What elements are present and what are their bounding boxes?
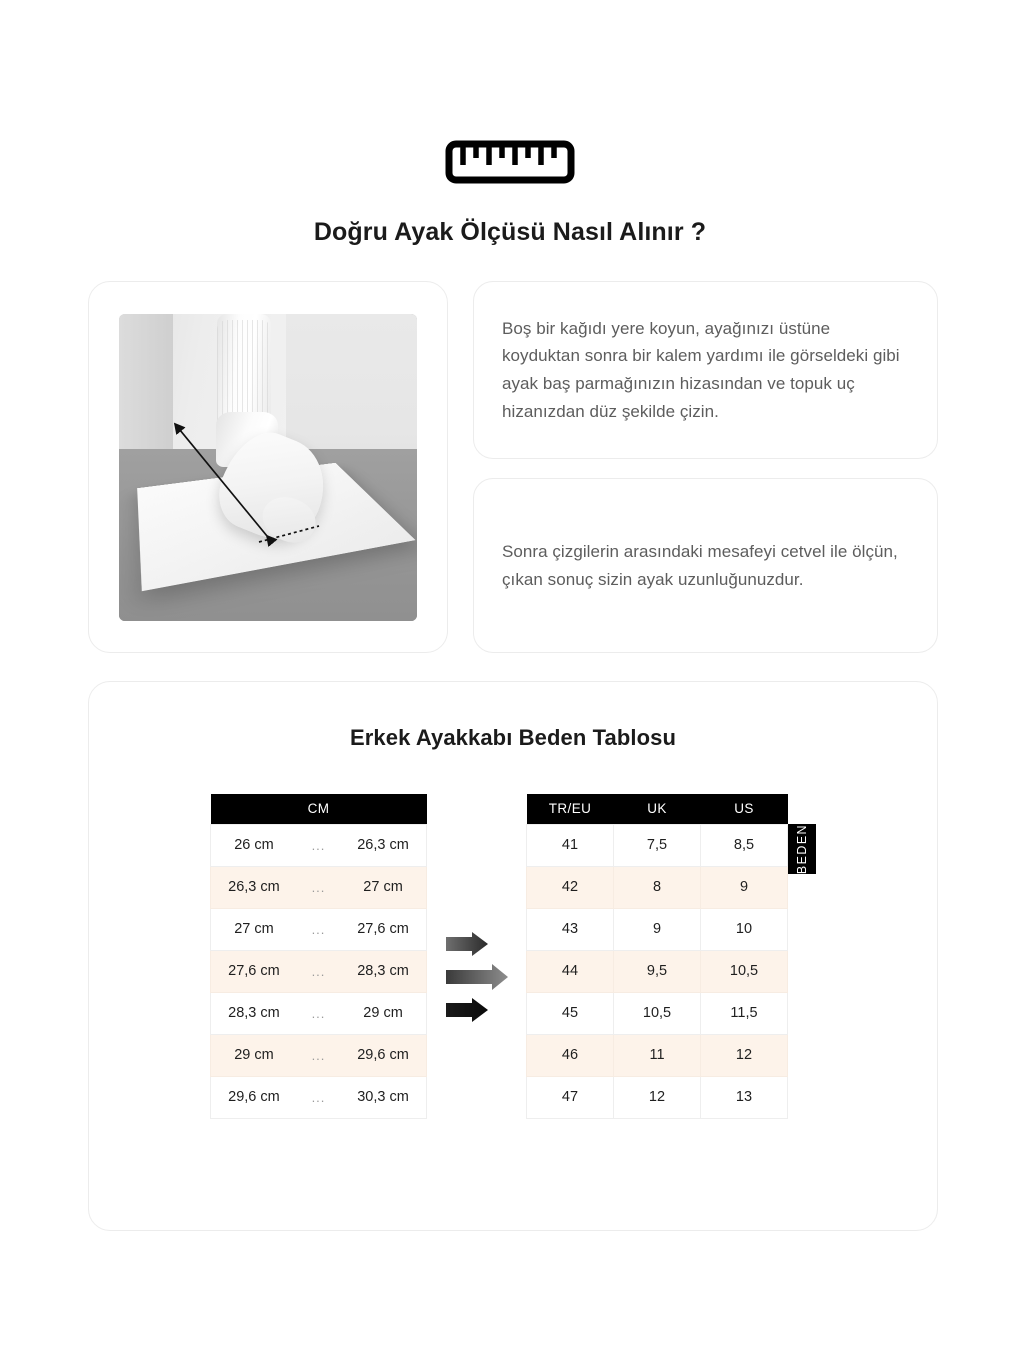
cm-dots: ... (297, 950, 340, 992)
size-table-card: Erkek Ayakkabı Beden Tablosu CM 26 cm ..… (88, 681, 938, 1231)
table-row: 28,3 cm ... 29 cm (211, 992, 427, 1034)
header-us: US (701, 794, 788, 824)
size-table-title: Erkek Ayakkabı Beden Tablosu (89, 725, 937, 751)
cm-to: 28,3 cm (340, 950, 426, 992)
cm-to: 29,6 cm (340, 1034, 426, 1076)
cell-us: 12 (701, 1034, 788, 1076)
cm-to: 27,6 cm (340, 908, 426, 950)
ruler-icon (445, 140, 575, 184)
size-conversion-group: TR/EU UK US 41 7,5 8,5 42 8 (526, 794, 816, 1119)
header-tr-eu: TR/EU (527, 794, 614, 824)
table-row: 44 9,5 10,5 (527, 950, 788, 992)
cm-table-header-row: CM (211, 794, 427, 824)
cm-from: 28,3 cm (211, 992, 297, 1034)
cell-uk: 11 (614, 1034, 701, 1076)
conversion-arrows (427, 794, 526, 1160)
table-row: 29 cm ... 29,6 cm (211, 1034, 427, 1076)
cell-tr-eu: 41 (527, 824, 614, 866)
cm-dots: ... (297, 866, 340, 908)
cell-tr-eu: 42 (527, 866, 614, 908)
instruction-card-2: Sonra çizgilerin arasındaki mesafeyi cet… (473, 478, 938, 653)
cm-dots: ... (297, 908, 340, 950)
table-row: 42 8 9 (527, 866, 788, 908)
cm-from: 26 cm (211, 824, 297, 866)
instruction-text-2: Sonra çizgilerin arasındaki mesafeyi cet… (502, 538, 909, 593)
measurement-arrow-overlay (119, 314, 417, 621)
size-table-header-row: TR/EU UK US (527, 794, 788, 824)
beden-side-bar: BEDEN (788, 824, 816, 874)
cell-uk: 9,5 (614, 950, 701, 992)
table-row: 41 7,5 8,5 (527, 824, 788, 866)
table-row: 45 10,5 11,5 (527, 992, 788, 1034)
size-tables-row: CM 26 cm ... 26,3 cm 26,3 cm ... 27 cm (89, 794, 937, 1160)
instruction-text-1: Boş bir kağıdı yere koyun, ayağınızı üst… (502, 315, 909, 426)
table-row: 27,6 cm ... 28,3 cm (211, 950, 427, 992)
cm-dots: ... (297, 824, 340, 866)
size-conversion-table: TR/EU UK US 41 7,5 8,5 42 8 (526, 794, 788, 1119)
cell-uk: 10,5 (614, 992, 701, 1034)
beden-label: BEDEN (795, 824, 809, 874)
table-row: 26 cm ... 26,3 cm (211, 824, 427, 866)
cm-from: 29 cm (211, 1034, 297, 1076)
page-title: Doğru Ayak Ölçüsü Nasıl Alınır ? (0, 218, 1020, 247)
cm-to: 29 cm (340, 992, 426, 1034)
cell-tr-eu: 43 (527, 908, 614, 950)
cell-us: 13 (701, 1076, 788, 1118)
cell-tr-eu: 44 (527, 950, 614, 992)
cell-us: 10,5 (701, 950, 788, 992)
table-row: 47 12 13 (527, 1076, 788, 1118)
table-row: 27 cm ... 27,6 cm (211, 908, 427, 950)
cm-to: 26,3 cm (340, 824, 426, 866)
cm-header-cell: CM (211, 794, 427, 824)
foot-measurement-photo (119, 314, 417, 621)
header-uk: UK (614, 794, 701, 824)
cell-uk: 12 (614, 1076, 701, 1118)
how-to-measure-section: Boş bir kağıdı yere koyun, ayağınızı üst… (88, 281, 938, 653)
table-row: 26,3 cm ... 27 cm (211, 866, 427, 908)
table-row: 43 9 10 (527, 908, 788, 950)
table-row: 29,6 cm ... 30,3 cm (211, 1076, 427, 1118)
instruction-cards: Boş bir kağıdı yere koyun, ayağınızı üst… (473, 281, 938, 653)
cell-us: 11,5 (701, 992, 788, 1034)
cm-dots: ... (297, 1034, 340, 1076)
table-row: 46 11 12 (527, 1034, 788, 1076)
cell-us: 10 (701, 908, 788, 950)
cm-from: 27 cm (211, 908, 297, 950)
cm-dots: ... (297, 1076, 340, 1118)
cell-us: 8,5 (701, 824, 788, 866)
cell-tr-eu: 45 (527, 992, 614, 1034)
cell-tr-eu: 47 (527, 1076, 614, 1118)
cm-from: 27,6 cm (211, 950, 297, 992)
arrows-icon (444, 931, 510, 1023)
cm-to: 30,3 cm (340, 1076, 426, 1118)
size-guide-page: Doğru Ayak Ölçüsü Nasıl Alınır ? (0, 0, 1020, 1360)
cm-to: 27 cm (340, 866, 426, 908)
instruction-card-1: Boş bir kağıdı yere koyun, ayağınızı üst… (473, 281, 938, 459)
cm-dots: ... (297, 992, 340, 1034)
measurement-photo-card (88, 281, 448, 653)
cell-tr-eu: 46 (527, 1034, 614, 1076)
cell-uk: 7,5 (614, 824, 701, 866)
cell-uk: 8 (614, 866, 701, 908)
cell-us: 9 (701, 866, 788, 908)
cm-from: 26,3 cm (211, 866, 297, 908)
cell-uk: 9 (614, 908, 701, 950)
ruler-icon-container (0, 140, 1020, 184)
cm-from: 29,6 cm (211, 1076, 297, 1118)
cm-table: CM 26 cm ... 26,3 cm 26,3 cm ... 27 cm (210, 794, 427, 1119)
